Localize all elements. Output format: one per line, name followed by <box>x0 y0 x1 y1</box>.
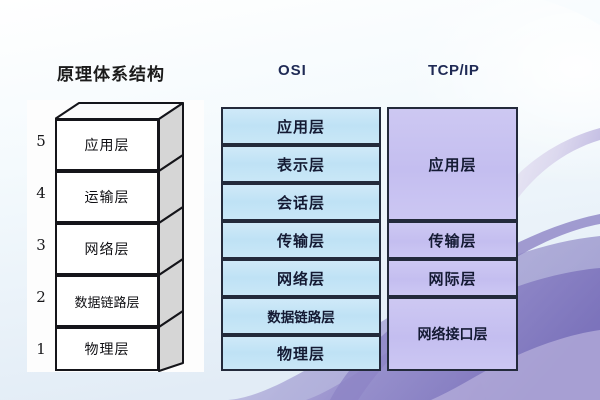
slide-canvas: 原理体系结构 OSI TCP/IP 5 4 3 2 1 应用层 运输层 网络层 … <box>0 0 600 400</box>
layer-number-5: 5 <box>28 132 54 150</box>
osi-layer-application: 应用层 <box>221 107 381 145</box>
osi-layer-network: 网络层 <box>221 259 381 297</box>
osi-layer-session: 会话层 <box>221 183 381 221</box>
principle-layer-network: 网络层 <box>55 223 159 275</box>
principle-layer-physical: 物理层 <box>55 327 159 371</box>
layer-number-1: 1 <box>28 340 54 358</box>
osi-layer-physical: 物理层 <box>221 335 381 371</box>
principle-layer-number-list: 5 4 3 2 1 <box>28 110 54 372</box>
tcpip-layer-transport: 传输层 <box>387 221 518 259</box>
principle-layer-transport: 运输层 <box>55 171 159 223</box>
layer-number-4: 4 <box>28 184 54 202</box>
tcpip-layer-column: 应用层 传输层 网际层 网络接口层 <box>387 107 518 371</box>
tcpip-layer-network-interface: 网络接口层 <box>387 297 518 371</box>
layer-number-3: 3 <box>28 236 54 254</box>
osi-layer-transport: 传输层 <box>221 221 381 259</box>
tcpip-layer-application: 应用层 <box>387 107 518 221</box>
osi-layer-column: 应用层 表示层 会话层 传输层 网络层 数据链路层 物理层 <box>221 107 381 371</box>
principle-architecture-3d-stack: 应用层 运输层 网络层 数据链路层 物理层 <box>55 101 191 373</box>
osi-layer-datalink: 数据链路层 <box>221 297 381 335</box>
principle-layer-datalink: 数据链路层 <box>55 275 159 327</box>
osi-layer-presentation: 表示层 <box>221 145 381 183</box>
tcpip-layer-internet: 网际层 <box>387 259 518 297</box>
osi-column-title: OSI <box>278 62 307 79</box>
layer-number-2: 2 <box>28 288 54 306</box>
principle-layer-application: 应用层 <box>55 119 159 171</box>
principle-architecture-title: 原理体系结构 <box>57 60 165 85</box>
tcpip-column-title: TCP/IP <box>428 62 479 79</box>
